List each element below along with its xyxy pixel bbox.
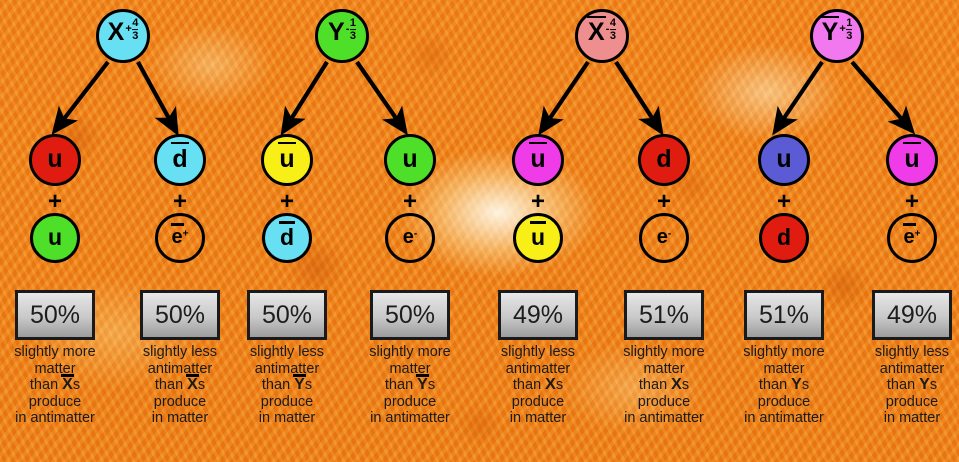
decay-product-top-7: u bbox=[758, 134, 810, 186]
d-glyph: d bbox=[656, 147, 671, 172]
overbar-mark bbox=[278, 142, 295, 144]
overbar-mark bbox=[530, 221, 546, 223]
caption-line: slightly more bbox=[0, 344, 121, 361]
probability-box-3: 50% bbox=[247, 290, 327, 340]
channel-caption-6: slightly morematterthan Xsproducein anti… bbox=[598, 344, 730, 427]
Y-glyph: Y bbox=[328, 20, 345, 45]
caption-line: antimatter bbox=[472, 361, 604, 378]
caption-line: matter bbox=[344, 361, 476, 378]
anti-u-glyph: u bbox=[904, 147, 919, 172]
overbar-mark bbox=[821, 16, 840, 18]
anti-Y-token: Y bbox=[417, 376, 428, 393]
plus-operator-5: + bbox=[518, 190, 558, 214]
anti-d-glyph: d bbox=[280, 226, 294, 249]
decay-product-top-2: d bbox=[154, 134, 206, 186]
channel-caption-8: slightly lessantimatterthan Ysproducein … bbox=[846, 344, 959, 427]
decay-product-top-8: u bbox=[886, 134, 938, 186]
anti-u-glyph: u bbox=[531, 226, 545, 249]
X-token: X bbox=[545, 376, 556, 393]
plus-operator-4: + bbox=[390, 190, 430, 214]
parent-particle-antix: X-43 bbox=[575, 9, 629, 63]
charge-superscript: - bbox=[668, 229, 671, 239]
Y-token: Y bbox=[791, 376, 802, 393]
caption-line: antimatter bbox=[846, 361, 959, 378]
caption-line: produce bbox=[344, 394, 476, 411]
anti-Y-glyph: Y bbox=[294, 377, 305, 394]
probability-box-1: 50% bbox=[15, 290, 95, 340]
plus-operator-1: + bbox=[35, 190, 75, 214]
channel-caption-3: slightly lessantimatterthan Ysproducein … bbox=[221, 344, 353, 427]
caption-line: than Ys bbox=[221, 377, 353, 394]
decay-product-bottom-5: u bbox=[513, 213, 563, 263]
caption-line: produce bbox=[846, 394, 959, 411]
decay-product-bottom-8: e+ bbox=[887, 213, 937, 263]
overbar-mark bbox=[587, 16, 606, 18]
plus-operator-6: + bbox=[644, 190, 684, 214]
decay-product-bottom-7: d bbox=[759, 213, 809, 263]
caption-line: produce bbox=[0, 394, 121, 411]
caption-line: produce bbox=[718, 394, 850, 411]
caption-line: than Ys bbox=[344, 377, 476, 394]
anti-Y-glyph: Y bbox=[822, 20, 839, 45]
probability-box-8: 49% bbox=[872, 290, 952, 340]
plus-operator-2: + bbox=[160, 190, 200, 214]
decay-product-top-5: u bbox=[512, 134, 564, 186]
decay-product-bottom-6: e- bbox=[639, 213, 689, 263]
channel-caption-7: slightly morematterthan Ysproducein anti… bbox=[718, 344, 850, 427]
decay-product-bottom-2: e+ bbox=[155, 213, 205, 263]
anti-u-glyph: u bbox=[530, 147, 545, 172]
anti-X-glyph: X bbox=[62, 377, 73, 394]
anti-d-glyph: d bbox=[172, 147, 187, 172]
anti-Y-token: Y bbox=[294, 376, 305, 393]
parent-particle-antiy: Y+13 bbox=[810, 9, 864, 63]
probability-box-4: 50% bbox=[370, 290, 450, 340]
caption-line: slightly less bbox=[846, 344, 959, 361]
anti-u-glyph: u bbox=[279, 147, 294, 172]
caption-line: than Xs bbox=[598, 377, 730, 394]
overbar-mark bbox=[186, 374, 199, 376]
caption-line: produce bbox=[221, 394, 353, 411]
decay-product-top-3: u bbox=[261, 134, 313, 186]
decay-product-top-6: d bbox=[638, 134, 690, 186]
overbar-mark bbox=[279, 221, 295, 223]
X-glyph: X bbox=[671, 377, 682, 394]
decay-product-top-1: u bbox=[29, 134, 81, 186]
anti-X-glyph: X bbox=[187, 377, 198, 394]
channel-caption-4: slightly morematterthan Ysproducein anti… bbox=[344, 344, 476, 427]
caption-line: in antimatter bbox=[0, 410, 121, 427]
X-glyph: X bbox=[108, 20, 125, 45]
overbar-mark bbox=[903, 223, 916, 225]
probability-box-7: 51% bbox=[744, 290, 824, 340]
caption-line: matter bbox=[718, 361, 850, 378]
overbar-mark bbox=[171, 142, 188, 144]
caption-line: slightly more bbox=[344, 344, 476, 361]
u-glyph: u bbox=[402, 147, 417, 172]
charge-superscript: + bbox=[915, 229, 921, 239]
decay-product-bottom-1: u bbox=[30, 213, 80, 263]
caption-line: matter bbox=[598, 361, 730, 378]
u-glyph: u bbox=[48, 226, 62, 249]
overbar-mark bbox=[529, 142, 546, 144]
caption-line: in antimatter bbox=[718, 410, 850, 427]
probability-box-6: 51% bbox=[624, 290, 704, 340]
plus-operator-3: + bbox=[267, 190, 307, 214]
caption-line: in antimatter bbox=[598, 410, 730, 427]
caption-line: than Ys bbox=[846, 377, 959, 394]
overbar-mark bbox=[293, 374, 306, 376]
Y-glyph: Y bbox=[919, 377, 930, 394]
caption-line: than Xs bbox=[472, 377, 604, 394]
caption-line: produce bbox=[472, 394, 604, 411]
X-token: X bbox=[671, 376, 682, 393]
anti-X-glyph: X bbox=[588, 20, 605, 45]
u-glyph: u bbox=[47, 147, 62, 172]
charge-superscript: - bbox=[414, 229, 417, 239]
probability-box-5: 49% bbox=[498, 290, 578, 340]
anti-e-glyph: e bbox=[172, 227, 183, 247]
anti-Y-glyph: Y bbox=[417, 377, 428, 394]
caption-line: than Ys bbox=[718, 377, 850, 394]
decay-product-top-4: u bbox=[384, 134, 436, 186]
Y-glyph: Y bbox=[791, 377, 802, 394]
caption-line: than Xs bbox=[0, 377, 121, 394]
u-glyph: u bbox=[776, 147, 791, 172]
plus-operator-7: + bbox=[764, 190, 804, 214]
caption-line: in matter bbox=[221, 410, 353, 427]
caption-line: produce bbox=[598, 394, 730, 411]
anti-X-token: X bbox=[62, 376, 73, 393]
caption-line: slightly more bbox=[718, 344, 850, 361]
X-glyph: X bbox=[545, 377, 556, 394]
caption-line: slightly less bbox=[472, 344, 604, 361]
charge-superscript: + bbox=[183, 229, 189, 239]
channel-caption-5: slightly lessantimatterthan Xsproducein … bbox=[472, 344, 604, 427]
charge-label: +43 bbox=[125, 18, 138, 42]
parent-particle-y: Y-13 bbox=[315, 9, 369, 63]
anti-X-token: X bbox=[187, 376, 198, 393]
caption-line: in antimatter bbox=[344, 410, 476, 427]
channel-caption-1: slightly morematterthan Xsproducein anti… bbox=[0, 344, 121, 427]
d-glyph: d bbox=[777, 226, 791, 249]
caption-line: slightly less bbox=[221, 344, 353, 361]
probability-box-2: 50% bbox=[140, 290, 220, 340]
overbar-mark bbox=[416, 374, 429, 376]
overbar-mark bbox=[903, 142, 920, 144]
plus-operator-8: + bbox=[892, 190, 932, 214]
overbar-mark bbox=[61, 374, 74, 376]
caption-line: antimatter bbox=[221, 361, 353, 378]
caption-line: in matter bbox=[846, 410, 959, 427]
Y-token: Y bbox=[919, 376, 930, 393]
overbar-mark bbox=[171, 223, 184, 225]
e-glyph: e bbox=[657, 227, 668, 247]
anti-e-glyph: e bbox=[904, 227, 915, 247]
decay-product-bottom-3: d bbox=[262, 213, 312, 263]
parent-particle-x: X+43 bbox=[96, 9, 150, 63]
decay-product-bottom-4: e- bbox=[385, 213, 435, 263]
e-glyph: e bbox=[403, 227, 414, 247]
caption-line: in matter bbox=[472, 410, 604, 427]
charge-label: -43 bbox=[606, 18, 616, 42]
charge-label: +13 bbox=[839, 18, 852, 42]
caption-line: slightly more bbox=[598, 344, 730, 361]
diagram-canvas: X+43Y-13X-43Y+13 u+ud+e+u+du+e-u+ud+e-u+… bbox=[0, 0, 959, 462]
charge-label: -13 bbox=[346, 18, 356, 42]
